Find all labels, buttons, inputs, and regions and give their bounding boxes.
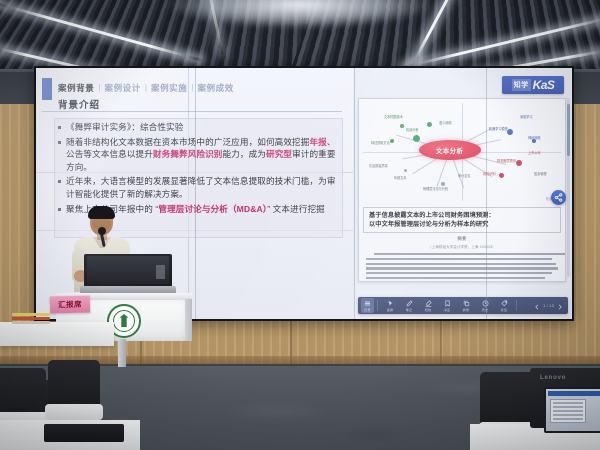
presenter-seat-label: 汇报席 bbox=[58, 299, 82, 311]
graph-node-label: 语义网络 bbox=[439, 120, 451, 125]
monitor-titlebar bbox=[548, 391, 600, 396]
microphone-icon bbox=[98, 227, 106, 235]
scrollbar-thumb[interactable] bbox=[567, 104, 570, 156]
ceiling-glow bbox=[168, 0, 432, 28]
screen-tile-seam bbox=[486, 68, 487, 319]
chevron-right-icon[interactable] bbox=[557, 297, 563, 315]
bullet-highlight: 财务舞弊风险识别 bbox=[153, 149, 223, 159]
graph-node-label: 风险识别 bbox=[483, 171, 495, 176]
graph-node-label: 财务困境预测 bbox=[497, 159, 516, 164]
kas-logo-word: KaS bbox=[533, 78, 555, 92]
graph-node-label: 神经网络 bbox=[528, 135, 540, 140]
bullet-text: 随着非结构化文本数据在资本市场中的广泛应用，如何高效挖掘年报、公告等文本信息以提… bbox=[66, 136, 342, 174]
graph-node-label: 年报文本 bbox=[394, 176, 406, 181]
toolbar-label: 划线 bbox=[425, 308, 431, 312]
bullet-span: 随着非结构化文本数据在资本市场中的广泛应用，如何高效挖掘 bbox=[66, 137, 309, 147]
text-line bbox=[366, 258, 552, 260]
menu-icon[interactable]: 目录 bbox=[361, 298, 374, 313]
bullet-highlight: 年报 bbox=[309, 137, 326, 147]
book bbox=[12, 317, 50, 320]
bullet-span: 《舞弊审计实务》：综合性实验 bbox=[66, 122, 183, 132]
presenter-seat-banner: 汇报席 bbox=[50, 295, 90, 313]
share-icon[interactable] bbox=[551, 190, 566, 205]
laptop-port bbox=[156, 265, 165, 279]
kas-logo-mark: 知学 bbox=[512, 79, 531, 91]
toolbar-label: 历史 bbox=[482, 308, 488, 312]
slide-nav-item-outcome[interactable]: 案例成效 bbox=[197, 82, 233, 94]
chair bbox=[480, 372, 536, 430]
document-title-line2: 以中文年报管理层讨论与分析为样本的研究 bbox=[369, 220, 555, 229]
monitor-screen bbox=[544, 387, 600, 433]
chair bbox=[48, 360, 100, 412]
graph-node[interactable] bbox=[499, 173, 504, 178]
emblem-inner bbox=[113, 310, 135, 332]
text-line bbox=[366, 272, 552, 274]
screen-tile-seam bbox=[195, 68, 196, 319]
nav-separator: | bbox=[145, 83, 147, 92]
graph-node[interactable] bbox=[400, 124, 404, 128]
copy-icon[interactable]: 摘录 bbox=[457, 298, 475, 313]
nav-separator: | bbox=[98, 83, 100, 92]
knowledge-graph[interactable]: 文本分析 文本挖掘技术 情感分析 特征提取方法 语义网络 机器学习模型 深度学习… bbox=[359, 99, 565, 205]
graph-node[interactable] bbox=[441, 182, 445, 186]
graph-node[interactable] bbox=[413, 135, 420, 142]
page-indicator: 1 / 13 bbox=[543, 304, 554, 308]
kas-logo: 知学 KaS bbox=[502, 76, 564, 94]
text-line bbox=[366, 263, 556, 265]
slide-nav-item-design[interactable]: 案例设计 bbox=[104, 82, 140, 94]
lenovo-monitor: Lenovo bbox=[530, 368, 600, 436]
toolbar-label: 选择 bbox=[387, 308, 393, 312]
chevron-left-icon[interactable] bbox=[534, 297, 540, 315]
bullet-highlight: 研究型 bbox=[266, 149, 292, 159]
toolbar-divider bbox=[516, 300, 517, 311]
slide-nav: 案例背景 | 案例设计 | 案例实施 | 案例成效 bbox=[58, 80, 345, 95]
toolbar-label: 目录 bbox=[364, 308, 370, 312]
bullet-text: 近年来，大语言模型的发展显著降低了文本信息提取的技术门槛，为审计智能化提供了新的… bbox=[66, 175, 342, 200]
text-line bbox=[366, 277, 545, 279]
side-desk bbox=[0, 322, 114, 346]
screen-tile-seam bbox=[354, 68, 355, 319]
book bbox=[12, 313, 50, 316]
list-item: 随着非结构化文本数据在资本市场中的广泛应用，如何高效挖掘年报、公告等文本信息以提… bbox=[58, 136, 342, 174]
bullet-dot bbox=[58, 208, 61, 211]
graph-node[interactable] bbox=[404, 169, 407, 172]
document-title-line1: 基于信息披露文本的上市公司财务困境预测： bbox=[369, 211, 555, 220]
bullet-dot bbox=[58, 141, 61, 144]
slide-title-rule bbox=[42, 111, 342, 112]
document-scrollbar[interactable] bbox=[567, 98, 570, 277]
document-affiliation: （上海财经大学会计学院，上海 200433） bbox=[359, 244, 565, 249]
photo-scene: 案例背景 | 案例设计 | 案例实施 | 案例成效 背景介绍 《舞弊审计实务》：… bbox=[0, 0, 600, 450]
bullet-span: 近年来，大语言模型的发展显著降低了文本信息提取的技术门槛，为审计智能化提供了新的… bbox=[66, 176, 336, 199]
bullet-highlight: 管理层讨论与分析（MD&A） bbox=[158, 204, 267, 214]
graph-center-node-label: 文本分析 bbox=[436, 145, 464, 155]
slide-nav-item-background[interactable]: 案例背景 bbox=[58, 82, 94, 94]
bullet-text: 《舞弊审计实务》：综合性实验 bbox=[66, 121, 183, 134]
bullet-span: ” 文本进行挖掘 bbox=[267, 204, 325, 214]
graph-node-label: 信息披露质量 bbox=[369, 163, 388, 168]
bullet-span: 能力，成为 bbox=[223, 149, 266, 159]
graph-node-label: 文本挖掘技术 bbox=[384, 114, 403, 119]
toolbar-label: 笔记 bbox=[406, 308, 412, 312]
toolbar-label: 书签 bbox=[444, 308, 450, 312]
monitor-brand-label: Lenovo bbox=[540, 375, 566, 381]
graph-node-label: 上市公司 bbox=[528, 150, 540, 155]
chair bbox=[0, 368, 46, 420]
toolbar-label: 标签 bbox=[501, 308, 507, 312]
document-page[interactable]: 文本分析 文本挖掘技术 情感分析 特征提取方法 语义网络 机器学习模型 深度学习… bbox=[358, 98, 566, 282]
book-stack bbox=[12, 313, 50, 324]
graph-node[interactable] bbox=[516, 160, 522, 166]
bookmark-icon[interactable]: 书签 bbox=[438, 298, 456, 313]
graph-node-label: 深度学习 bbox=[520, 114, 532, 119]
monitor-window bbox=[550, 399, 586, 423]
bullet-dot bbox=[58, 180, 61, 183]
document-title-box: 基于信息披露文本的上市公司财务困境预测： 以中文年报管理层讨论与分析为样本的研究 bbox=[363, 207, 561, 233]
slide-nav-item-implementation[interactable]: 案例实施 bbox=[151, 82, 187, 94]
cursor-icon[interactable]: 选择 bbox=[381, 298, 399, 313]
slide-bullet-list: 《舞弊审计实务》：综合性实验 随着非结构化文本数据在资本市场中的广泛应用，如何高… bbox=[58, 121, 342, 217]
graph-node-label: 机器学习模型 bbox=[489, 126, 508, 131]
highlight-icon[interactable]: 划线 bbox=[419, 298, 437, 313]
book bbox=[12, 321, 50, 324]
document-reader-panel: 知学 KaS bbox=[354, 68, 572, 319]
clock-icon[interactable]: 历史 bbox=[476, 298, 494, 313]
document-section-heading: 摘要 bbox=[359, 236, 565, 242]
tag-icon[interactable]: 标签 bbox=[495, 298, 513, 313]
graph-node[interactable] bbox=[427, 122, 432, 127]
list-item: 《舞弊审计实务》：综合性实验 bbox=[58, 121, 342, 134]
pen-icon[interactable]: 笔记 bbox=[400, 298, 418, 313]
graph-node[interactable] bbox=[532, 139, 536, 143]
toolbar-divider bbox=[377, 300, 378, 311]
page-nav[interactable]: 1 / 13 bbox=[534, 297, 565, 315]
document-abstract-body bbox=[366, 253, 558, 282]
nav-separator: | bbox=[191, 83, 193, 92]
graph-node[interactable] bbox=[507, 129, 513, 135]
chair-seat bbox=[45, 404, 103, 420]
toolbar-label: 摘录 bbox=[463, 308, 469, 312]
graph-node-label: 审计意见 bbox=[458, 173, 470, 178]
graph-node-label: 情感分析 bbox=[406, 127, 418, 132]
text-line bbox=[374, 253, 566, 255]
slide-accent-bar bbox=[42, 78, 52, 100]
laptop bbox=[80, 254, 176, 296]
graph-node-label: 特征提取方法 bbox=[371, 141, 390, 146]
presenter-hair bbox=[88, 206, 115, 219]
reader-toolbar[interactable]: 目录 选择 笔记 bbox=[358, 297, 568, 314]
bullet-dot bbox=[58, 126, 61, 129]
graph-center-node[interactable]: 文本分析 bbox=[419, 140, 481, 160]
graph-node-label: 管理层讨论与分析 bbox=[423, 186, 448, 191]
graph-node-label: 盈余管理 bbox=[534, 171, 546, 176]
podium-side bbox=[185, 299, 192, 341]
laptop-lid bbox=[84, 254, 172, 287]
desk-equipment bbox=[44, 424, 124, 442]
slide-section-title: 背景介绍 bbox=[58, 97, 100, 111]
list-item: 近年来，大语言模型的发展显著降低了文本信息提取的技术门槛，为审计智能化提供了新的… bbox=[58, 175, 342, 200]
graph-node[interactable] bbox=[390, 139, 394, 143]
podium-stand bbox=[118, 339, 126, 367]
text-line bbox=[366, 267, 558, 269]
